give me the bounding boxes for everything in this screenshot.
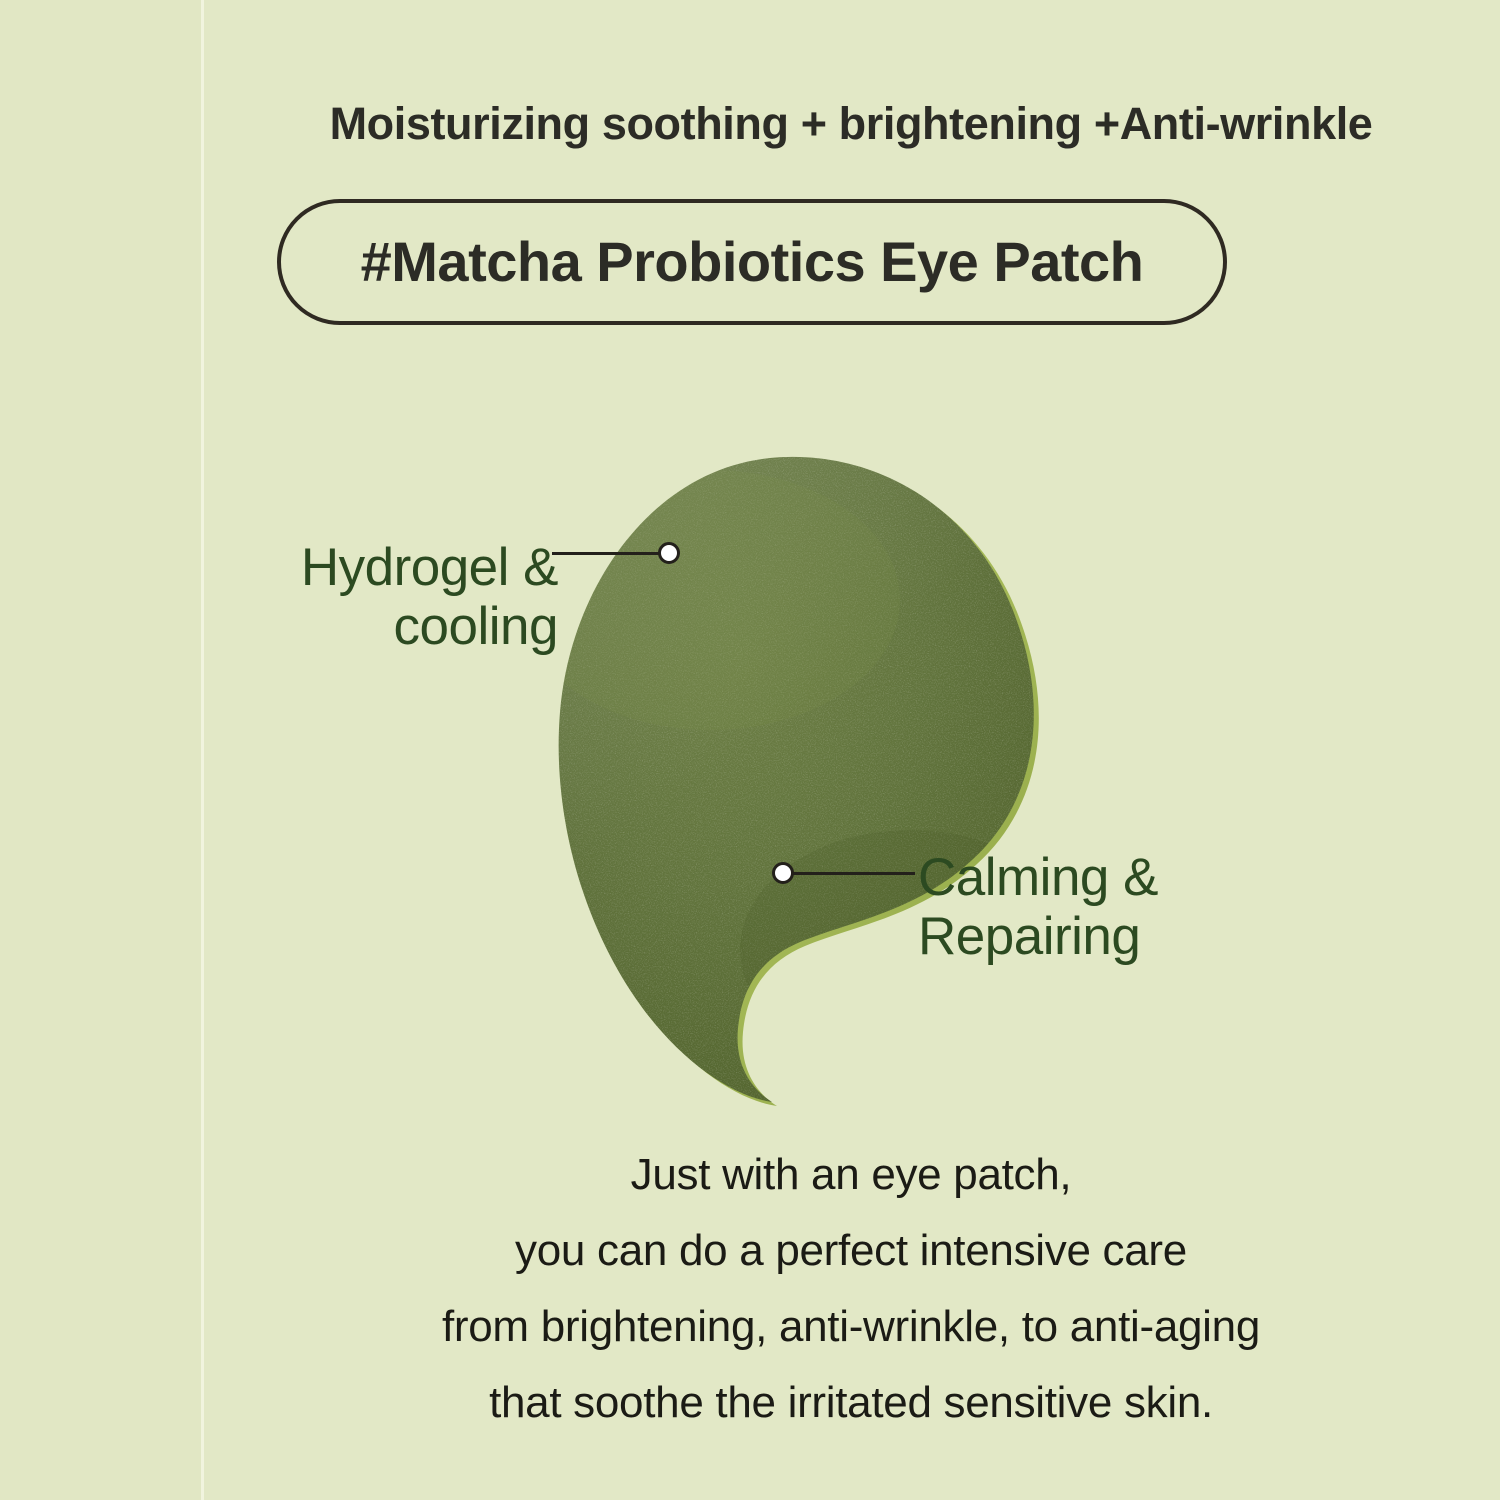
left-accent-strip	[0, 0, 201, 1500]
product-title-text: #Matcha Probiotics Eye Patch	[361, 229, 1144, 294]
tagline-text: Moisturizing soothing + brightening +Ant…	[202, 98, 1500, 150]
description-line-3: from brightening, anti-wrinkle, to anti-…	[202, 1302, 1500, 1352]
callout-calming-line-2: Repairing	[918, 907, 1258, 966]
callout-hydrogel-line-2: cooling	[228, 597, 558, 656]
description-line-1: Just with an eye patch,	[202, 1150, 1500, 1200]
description-line-2: you can do a perfect intensive care	[202, 1226, 1500, 1276]
callout-label-calming: Calming & Repairing	[918, 848, 1258, 967]
callout-dot-calming	[772, 862, 794, 884]
description-line-4: that soothe the irritated sensitive skin…	[202, 1378, 1500, 1428]
callout-calming-line-1: Calming &	[918, 848, 1258, 907]
callout-dot-hydrogel	[658, 542, 680, 564]
callout-hydrogel-line-1: Hydrogel &	[228, 538, 558, 597]
callout-label-hydrogel: Hydrogel & cooling	[228, 538, 558, 657]
product-title-pill: #Matcha Probiotics Eye Patch	[277, 199, 1227, 325]
eye-patch-svg	[480, 430, 1120, 1130]
leader-line-calming	[793, 872, 915, 875]
leader-line-hydrogel	[552, 552, 664, 555]
infographic-page: Moisturizing soothing + brightening +Ant…	[0, 0, 1500, 1500]
description-block: Just with an eye patch, you can do a per…	[202, 1150, 1500, 1428]
eye-patch-illustration	[480, 430, 1120, 1130]
